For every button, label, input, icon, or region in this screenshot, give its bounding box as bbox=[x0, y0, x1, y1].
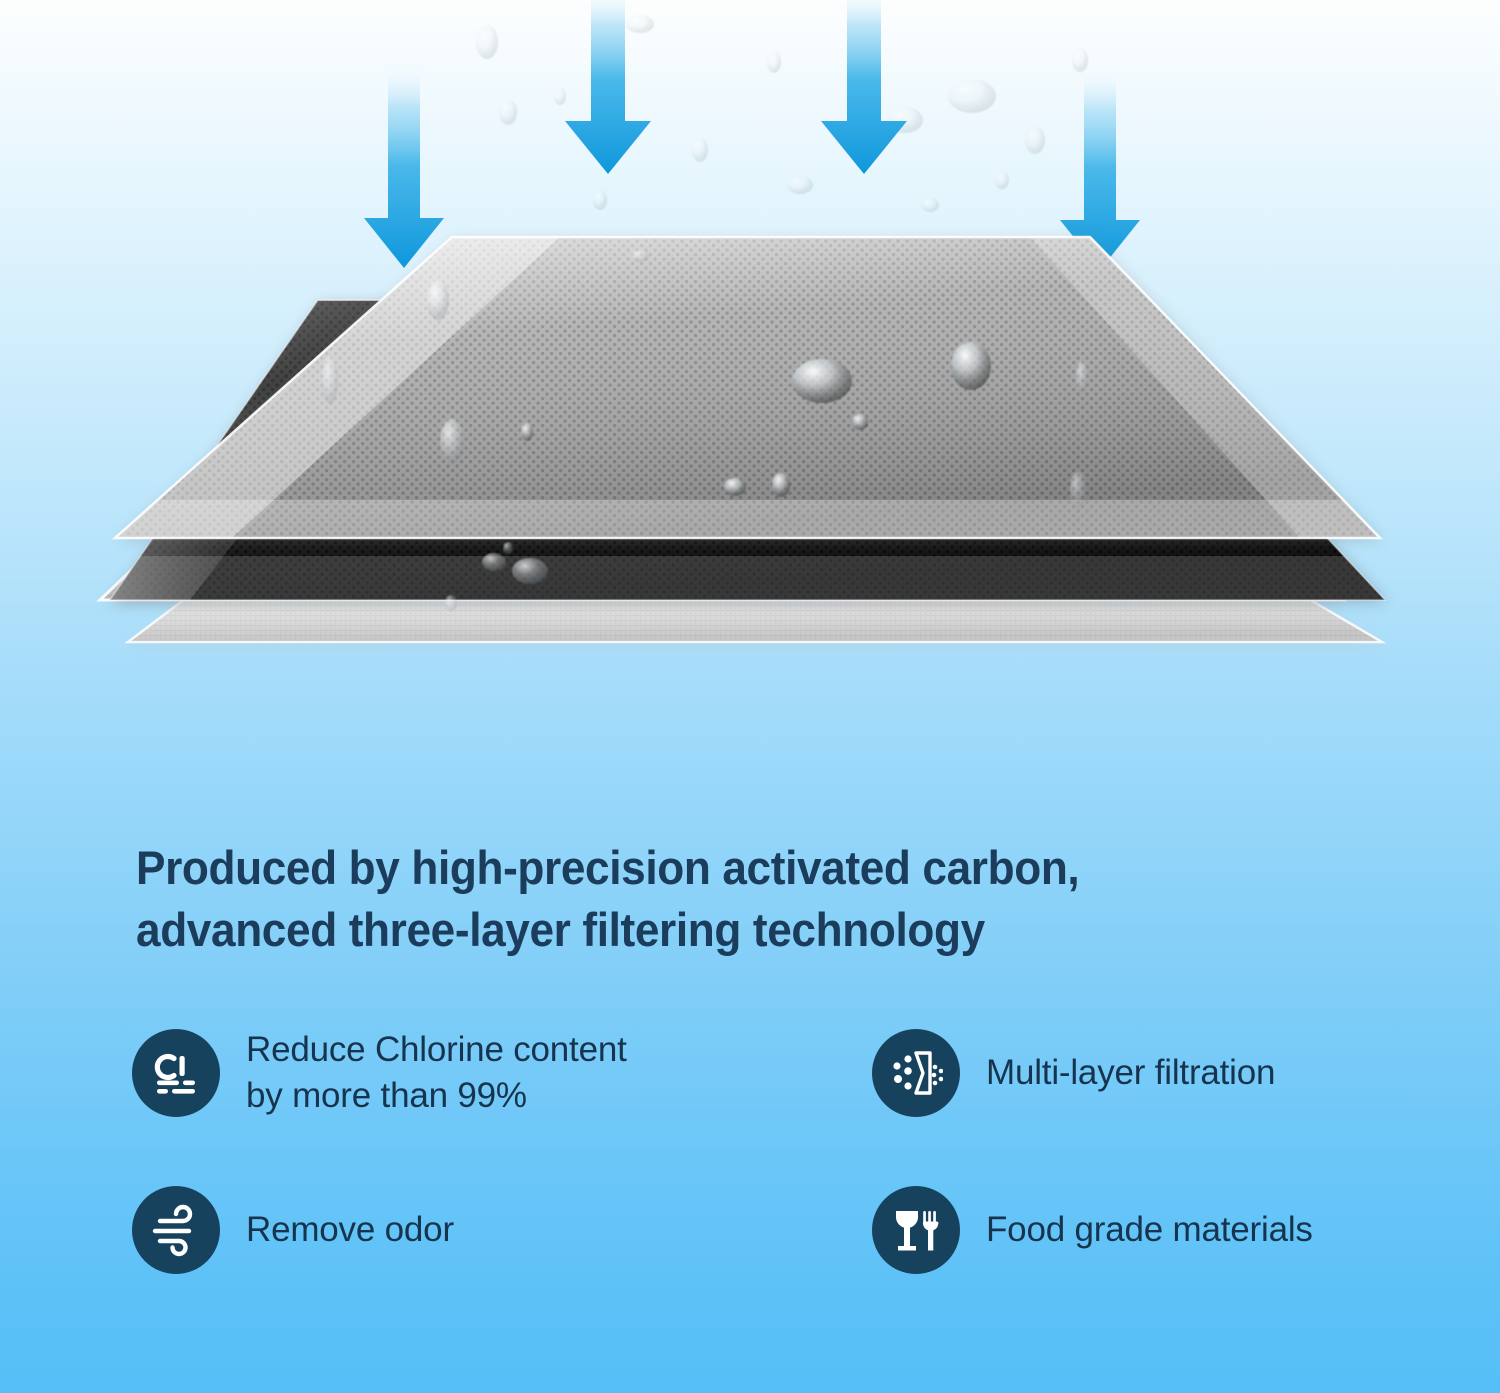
feature-label: Food grade materials bbox=[986, 1207, 1313, 1253]
headline-line-1: Produced by high-precision activated car… bbox=[136, 837, 1320, 898]
feature-food-grade-materials: Food grade materials bbox=[872, 1160, 1452, 1300]
water-droplets-upper bbox=[476, 15, 1088, 212]
glass-fork-icon bbox=[872, 1186, 960, 1274]
headline-line-2: advanced three-layer filtering technolog… bbox=[136, 899, 1320, 960]
feature-remove-odor: Remove odor bbox=[132, 1160, 872, 1300]
feature-label: Remove odor bbox=[246, 1207, 454, 1253]
top-mesh-layer bbox=[115, 237, 1385, 541]
infographic-page: Produced by high-precision activated car… bbox=[0, 0, 1500, 1393]
filter-layers-illustration bbox=[0, 0, 1500, 720]
feature-label: Multi-layer filtration bbox=[986, 1050, 1275, 1096]
feature-list: Reduce Chlorine content by more than 99% bbox=[132, 985, 1452, 1300]
airflow-wind-icon bbox=[132, 1186, 220, 1274]
feature-multi-layer-filtration: Multi-layer filtration bbox=[872, 985, 1452, 1160]
filtration-funnel-icon bbox=[872, 1029, 960, 1117]
page-headline: Produced by high-precision activated car… bbox=[136, 837, 1320, 959]
feature-label: Reduce Chlorine content by more than 99% bbox=[246, 1027, 627, 1118]
feature-reduce-chlorine: Reduce Chlorine content by more than 99% bbox=[132, 985, 872, 1160]
chlorine-icon bbox=[132, 1029, 220, 1117]
